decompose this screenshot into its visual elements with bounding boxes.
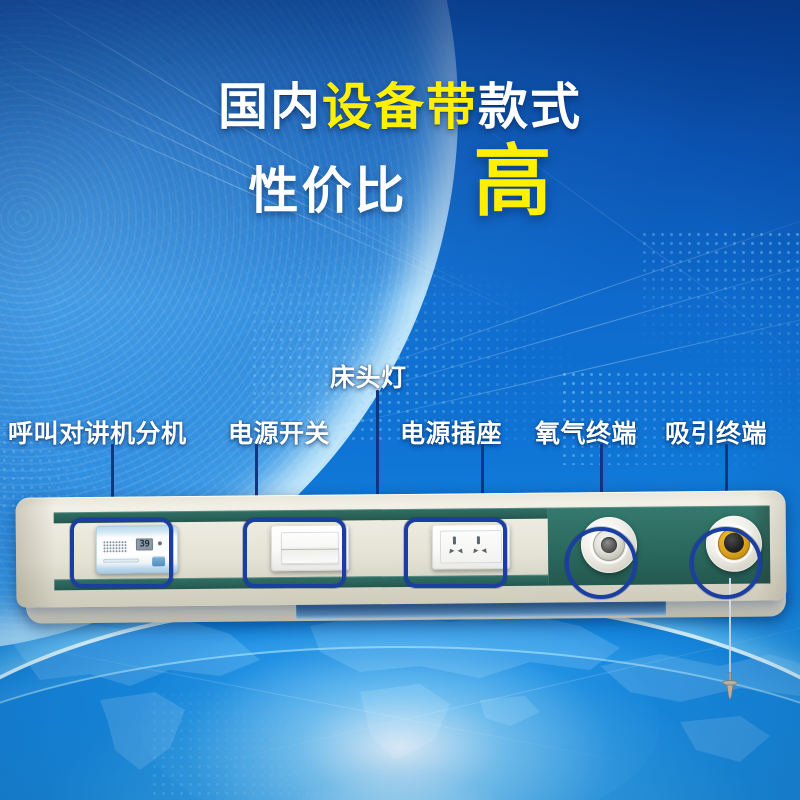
callout-label-suction-terminal: 吸引终端 xyxy=(665,414,767,450)
callout-label-oxygen-terminal: 氧气终端 xyxy=(535,414,637,450)
callout-label-power-switch: 电源开关 xyxy=(228,414,330,450)
callout-label-power-socket: 电源插座 xyxy=(400,414,502,450)
callout-label-intercom: 呼叫对讲机分机 xyxy=(8,414,187,450)
highlight-box-power-switch xyxy=(243,518,346,588)
suction-hanger-hook-icon xyxy=(718,672,742,702)
highlight-box-power-socket xyxy=(404,518,507,588)
highlight-box-intercom xyxy=(70,518,173,588)
poster-canvas: 国内设备带款式 性价比 高 呼叫对讲机分机 电源开关 床头灯 电源插座 氧气终端… xyxy=(0,0,800,800)
callout-label-bedside-lamp: 床头灯 xyxy=(330,358,407,394)
highlight-circle-oxygen-terminal xyxy=(565,527,637,599)
highlight-circle-suction-terminal xyxy=(690,527,762,599)
callout-layer: 呼叫对讲机分机 电源开关 床头灯 电源插座 氧气终端 吸引终端 xyxy=(0,0,800,800)
